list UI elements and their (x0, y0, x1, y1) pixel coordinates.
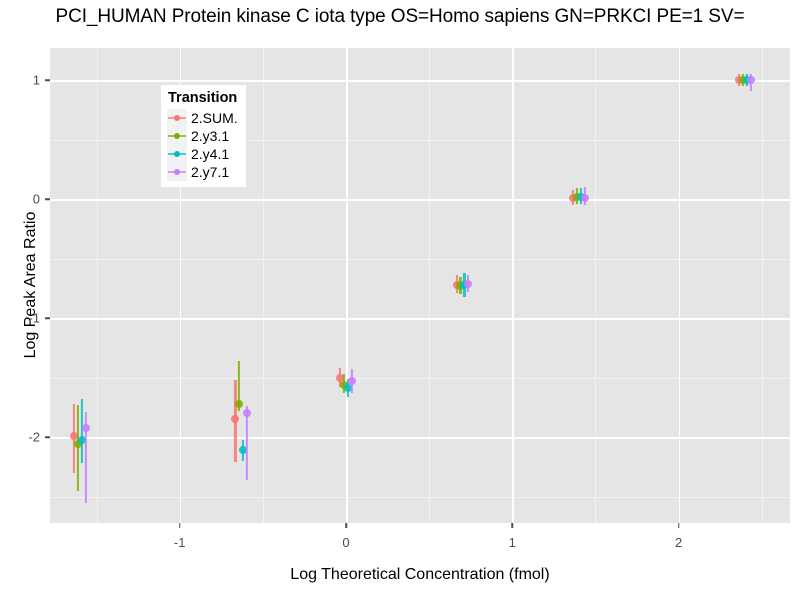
errorbar (81, 399, 83, 463)
data-point (243, 409, 251, 417)
x-tick-label: -1 (174, 535, 186, 550)
y-tick-label: 1 (33, 73, 40, 88)
data-point (231, 415, 239, 423)
y-axis-title: Log Peak Area Ratio (22, 135, 40, 435)
gridline-major-vertical (512, 48, 514, 523)
legend-key-icon (167, 163, 187, 181)
y-tick-mark (45, 317, 50, 319)
gridline-major-vertical (679, 48, 681, 523)
x-tick-mark (345, 523, 347, 528)
data-point (747, 76, 755, 84)
x-axis-title: Log Theoretical Concentration (fmol) (50, 566, 790, 584)
data-point (464, 280, 472, 288)
data-point (581, 194, 589, 202)
legend: Transition 2.SUM.2.y3.12.y4.12.y7.1 (161, 85, 246, 187)
gridline-minor-vertical (429, 48, 430, 523)
data-point (82, 424, 90, 432)
legend-item-label: 2.SUM. (191, 110, 238, 126)
y-tick-mark (45, 437, 50, 439)
data-point (235, 400, 243, 408)
legend-item-label: 2.y4.1 (191, 146, 229, 162)
x-tick-mark (179, 523, 181, 528)
legend-item-label: 2.y3.1 (191, 128, 229, 144)
x-tick-mark (678, 523, 680, 528)
legend-item: 2.y7.1 (167, 163, 238, 181)
x-tick-label: 1 (509, 535, 516, 550)
legend-item: 2.y4.1 (167, 145, 238, 163)
legend-key-icon (167, 145, 187, 163)
data-point (348, 377, 356, 385)
gridline-minor-vertical (263, 48, 264, 523)
gridline-minor-vertical (97, 48, 98, 523)
x-axis: -1012 (50, 523, 790, 563)
chart-figure: PCI_HUMAN Protein kinase C iota type OS=… (0, 0, 800, 600)
legend-key-icon (167, 127, 187, 145)
gridline-minor-vertical (595, 48, 596, 523)
legend-title: Transition (168, 90, 238, 106)
page-title: PCI_HUMAN Protein kinase C iota type OS=… (56, 6, 745, 28)
y-tick-mark (45, 198, 50, 200)
x-tick-label: 2 (675, 535, 682, 550)
gridline-minor-vertical (762, 48, 763, 523)
legend-key-icon (167, 109, 187, 127)
y-tick-mark (45, 79, 50, 81)
gridline-major-vertical (346, 48, 348, 523)
x-tick-label: 0 (342, 535, 349, 550)
x-tick-mark (512, 523, 514, 528)
legend-item-label: 2.y7.1 (191, 164, 229, 180)
legend-items: 2.SUM.2.y3.12.y4.12.y7.1 (167, 109, 238, 181)
legend-item: 2.y3.1 (167, 127, 238, 145)
legend-item: 2.SUM. (167, 109, 238, 127)
